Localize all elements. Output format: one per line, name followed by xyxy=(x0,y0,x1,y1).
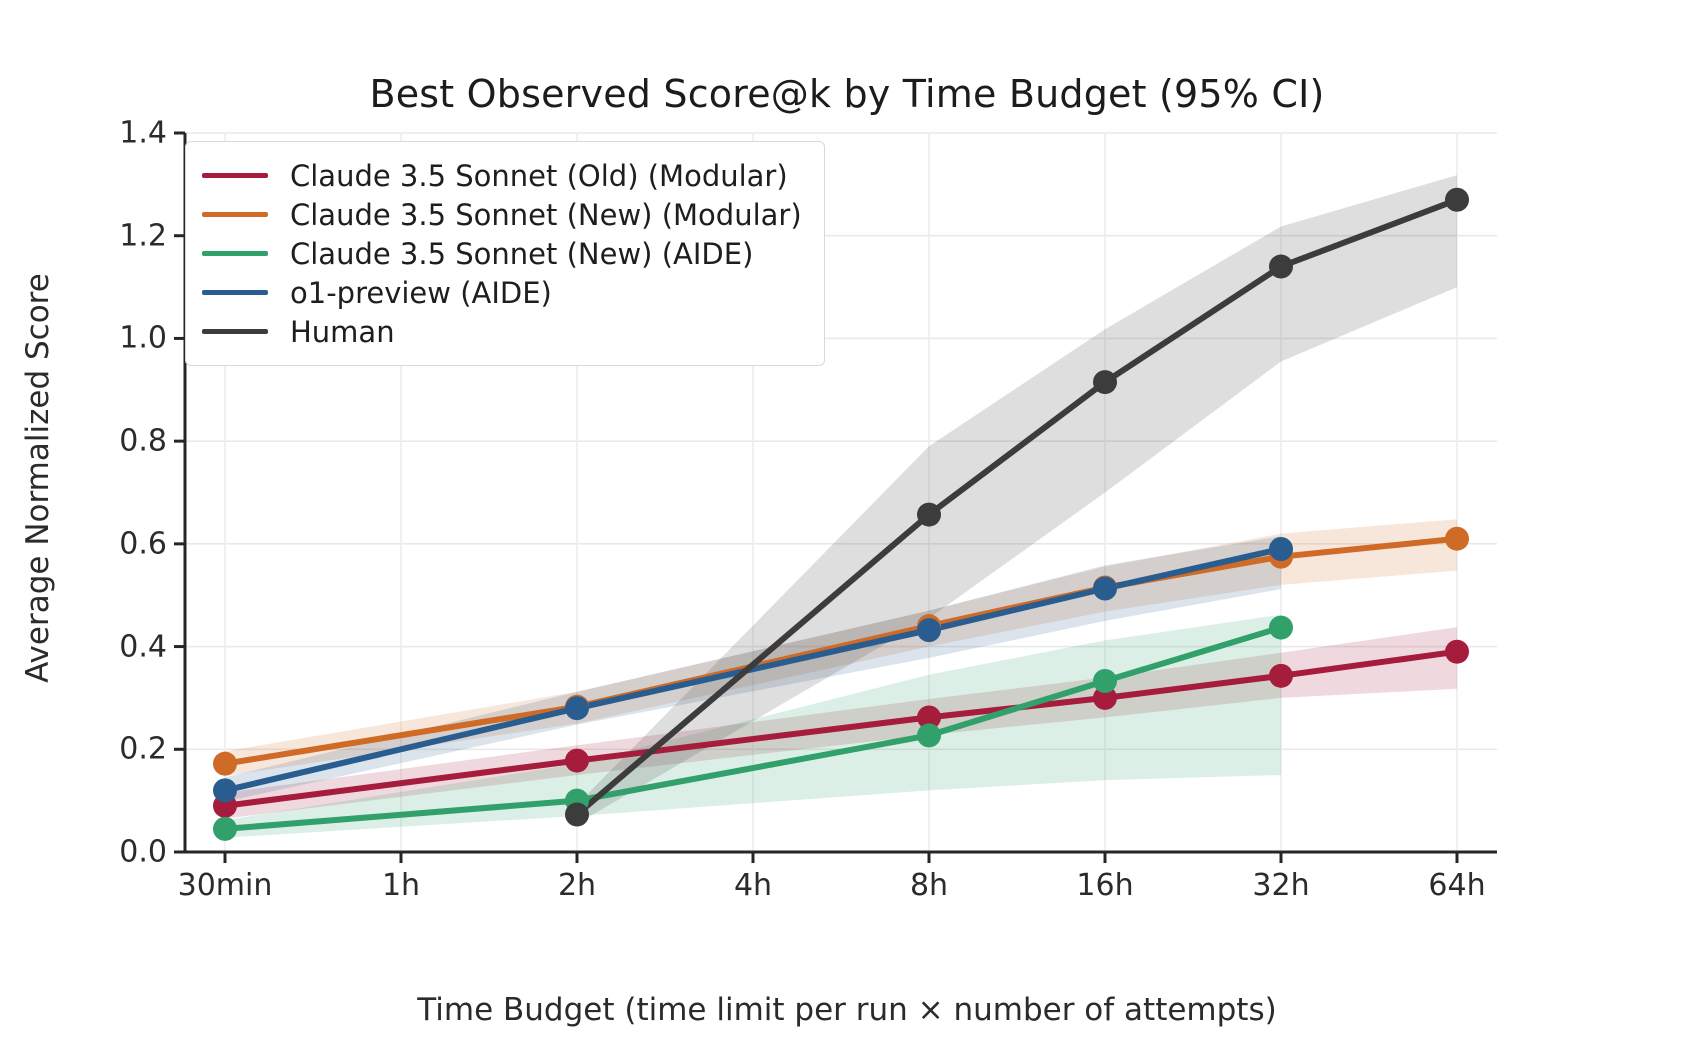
x-tick-label: 32h xyxy=(1201,868,1361,903)
x-tick-label: 2h xyxy=(497,868,657,903)
data-point xyxy=(1445,527,1469,551)
data-point xyxy=(1269,616,1293,640)
chart-figure: Best Observed Score@k by Time Budget (95… xyxy=(0,0,1694,1050)
x-tick-label: 30min xyxy=(145,868,305,903)
x-tick-label: 64h xyxy=(1377,868,1537,903)
legend-item[interactable]: Claude 3.5 Sonnet (New) (Modular) xyxy=(202,195,802,234)
legend-color-swatch xyxy=(202,290,268,295)
legend: Claude 3.5 Sonnet (Old) (Modular)Claude … xyxy=(185,141,825,366)
legend-item-label: Claude 3.5 Sonnet (New) (AIDE) xyxy=(290,237,753,271)
legend-color-swatch xyxy=(202,212,268,217)
data-point xyxy=(1269,255,1293,279)
data-point xyxy=(1445,188,1469,212)
x-tick-label: 16h xyxy=(1025,868,1185,903)
legend-item-label: Claude 3.5 Sonnet (New) (Modular) xyxy=(290,198,802,232)
legend-color-swatch xyxy=(202,251,268,256)
data-point xyxy=(565,696,589,720)
legend-item-label: Human xyxy=(290,315,395,349)
legend-item-label: Claude 3.5 Sonnet (Old) (Modular) xyxy=(290,159,788,193)
data-point xyxy=(917,723,941,747)
legend-color-swatch xyxy=(202,173,268,178)
data-point xyxy=(1269,537,1293,561)
data-point xyxy=(1093,370,1117,394)
legend-item[interactable]: Human xyxy=(202,312,802,351)
legend-item[interactable]: Claude 3.5 Sonnet (New) (AIDE) xyxy=(202,234,802,273)
data-point xyxy=(565,803,589,827)
data-point xyxy=(1093,577,1117,601)
data-point xyxy=(917,618,941,642)
data-point xyxy=(213,778,237,802)
y-axis-label: Average Normalized Score xyxy=(20,178,56,778)
x-tick-label: 4h xyxy=(673,868,833,903)
x-tick-label: 8h xyxy=(849,868,1009,903)
x-tick-label: 1h xyxy=(321,868,481,903)
data-point xyxy=(1445,640,1469,664)
data-point xyxy=(1093,669,1117,693)
legend-item[interactable]: o1-preview (AIDE) xyxy=(202,273,802,312)
data-point xyxy=(213,752,237,776)
data-point xyxy=(565,749,589,773)
data-point xyxy=(917,503,941,527)
legend-item-label: o1-preview (AIDE) xyxy=(290,276,552,310)
data-point xyxy=(1269,664,1293,688)
legend-item[interactable]: Claude 3.5 Sonnet (Old) (Modular) xyxy=(202,156,802,195)
data-point xyxy=(213,817,237,841)
legend-color-swatch xyxy=(202,329,268,334)
x-axis-label: Time Budget (time limit per run × number… xyxy=(0,992,1694,1028)
